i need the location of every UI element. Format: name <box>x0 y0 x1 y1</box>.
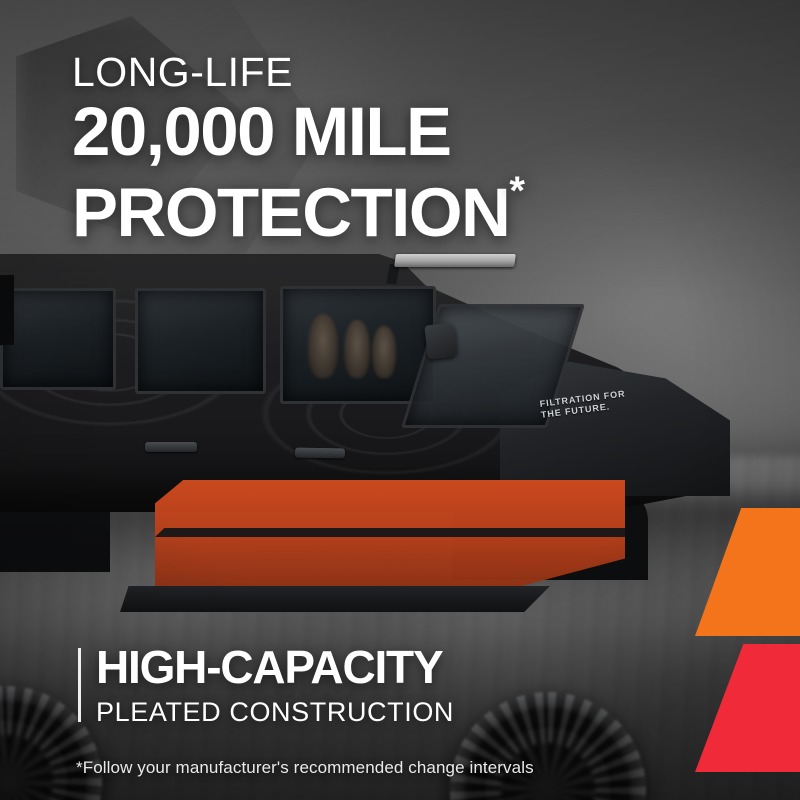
subhead-subtitle: PLEATED CONSTRUCTION <box>96 699 454 726</box>
footnote-disclaimer: *Follow your manufacturer's recommended … <box>76 758 534 778</box>
subhead-block: HIGH-CAPACITY PLEATED CONSTRUCTION <box>72 644 454 726</box>
door-handle <box>145 442 197 452</box>
headline-line-2: PROTECTION* <box>72 172 525 247</box>
roof-light-bar <box>394 254 516 267</box>
side-mirror <box>424 323 457 360</box>
subhead-title: HIGH-CAPACITY <box>96 644 454 690</box>
occupant-silhouette <box>372 326 396 378</box>
vertical-divider-bar <box>78 648 81 722</box>
headline-block: LONG-LIFE 20,000 MILE PROTECTION* <box>72 52 525 247</box>
headline-line-2-text: PROTECTION <box>72 174 509 251</box>
asterisk-marker: * <box>509 169 525 213</box>
vehicle-suv: FILTRATION FOR THE FUTURE. K&N. <box>0 236 770 636</box>
door-handle <box>295 448 345 459</box>
rear-quarter-window <box>0 288 116 390</box>
occupant-silhouette <box>308 314 338 378</box>
headline-line-1: 20,000 MILE <box>72 99 525 166</box>
occupant-silhouette <box>344 320 370 378</box>
eyebrow-text: LONG-LIFE <box>72 52 525 93</box>
rear-door-window <box>135 288 266 394</box>
kn-logo-badge: K&N. <box>0 275 14 347</box>
side-graphic-split-line <box>155 528 625 537</box>
side-step-rocker <box>120 586 550 612</box>
advertisement-banner: FILTRATION FOR THE FUTURE. K&N. LONG-LIF… <box>0 0 800 800</box>
